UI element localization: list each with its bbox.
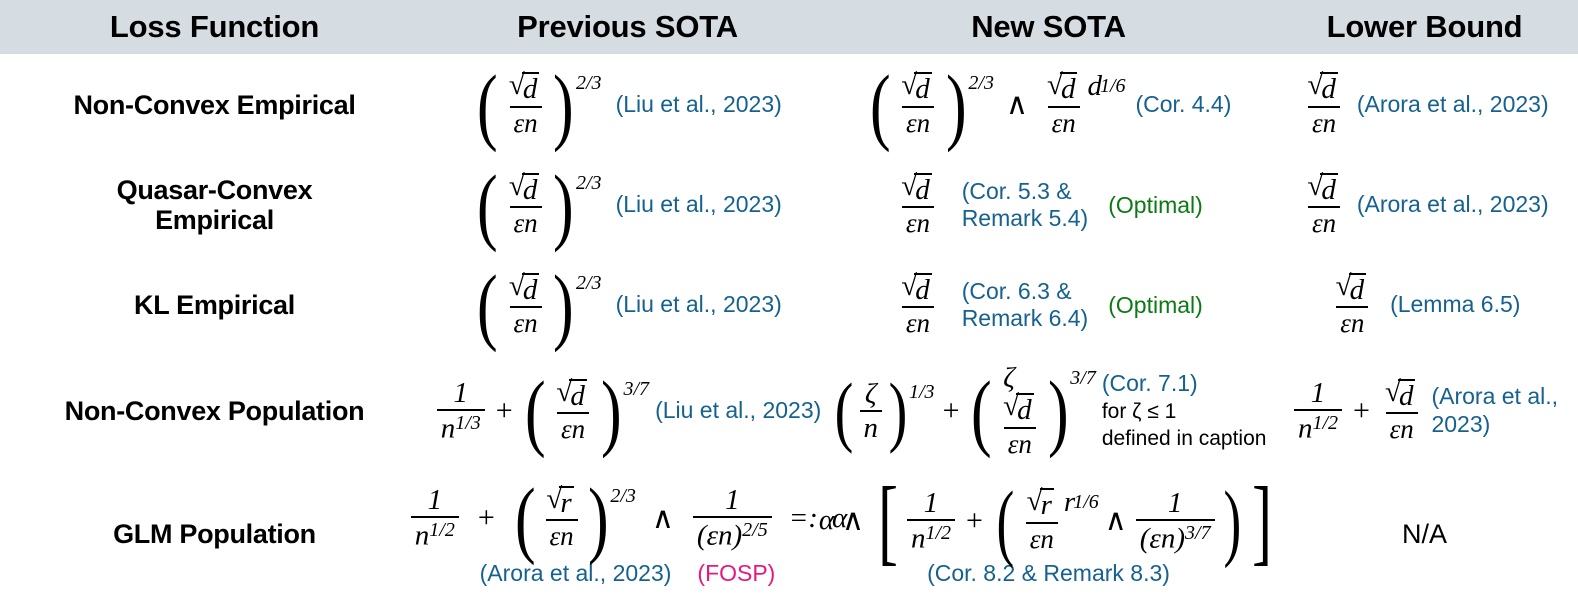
sqrt-icon: d	[901, 273, 935, 306]
cell-prev-sota: ( d εn ) 2/3 (Liu et al., 2023)	[429, 54, 826, 156]
formula-prev-sota-r1: ( d εn ) 2/3	[473, 69, 601, 141]
column-header-new-sota: New SOTA	[826, 0, 1271, 54]
table-row: Quasar-Convex Empirical ( d εn ) 2/3	[0, 156, 1578, 255]
denominator: εn	[546, 519, 578, 551]
plus-icon: +	[476, 501, 497, 535]
table-row: Non-Convex Empirical ( d εn ) 2/3 (Liu e…	[0, 54, 1578, 156]
variable-alpha: α	[819, 506, 834, 535]
numerator: ζd	[999, 364, 1041, 427]
denominator: n1/2	[411, 516, 459, 551]
fraction-one-over-n: 1 n1/2	[408, 486, 462, 551]
fraction: d εn	[1040, 72, 1088, 137]
row-label-quasar-convex-empirical: Quasar-Convex Empirical	[0, 175, 429, 237]
denominator: εn	[557, 412, 589, 444]
denominator: n1/3	[437, 409, 485, 444]
wedge-min-icon: ∧	[1004, 87, 1030, 122]
numerator: 1	[1164, 489, 1187, 519]
denominator: εn	[1308, 206, 1340, 238]
table-row: KL Empirical ( d εn ) 2/3 (Liu et al., 2…	[0, 255, 1578, 356]
denominator: n1/2	[1294, 409, 1342, 444]
left-paren-icon: (	[477, 169, 498, 241]
paren-group: ( r εn )	[511, 482, 613, 554]
numerator: 1	[450, 379, 473, 409]
sqrt-icon: r	[1027, 488, 1057, 521]
row-label-non-convex-empirical: Non-Convex Empirical	[0, 90, 429, 121]
sqrt-icon: d	[1385, 379, 1419, 412]
sqrt-icon: d	[1047, 72, 1081, 105]
formula-new-sota-r3: d εn	[894, 273, 942, 338]
numerator: 1	[721, 486, 744, 516]
sqrt-icon: d	[1336, 273, 1370, 306]
results-table-figure: Loss Function Previous SOTA New SOTA Low…	[0, 0, 1578, 603]
paren-group: ( d εn )	[473, 69, 578, 141]
defined-as-icon: =:	[789, 504, 818, 533]
status-badge-optimal: (Optimal)	[1108, 192, 1203, 219]
formula-new-sota-r4-term1: ( ζ n ) 1/3	[831, 378, 935, 444]
fraction: d εn	[894, 72, 942, 137]
denominator: εn	[902, 106, 934, 138]
paren-group: ( d εn )	[521, 375, 626, 447]
right-paren-icon: )	[1223, 487, 1241, 556]
wedge-min-icon: ∧	[1103, 503, 1129, 538]
left-paren-icon: (	[515, 482, 536, 554]
left-bracket-icon: [	[878, 483, 898, 560]
left-paren-icon: (	[477, 269, 498, 341]
exponent: 2/3	[576, 173, 602, 193]
exponent: 2/3	[610, 486, 636, 506]
row-label-cell: KL Empirical	[0, 255, 429, 356]
numerator: 1	[1307, 379, 1330, 409]
denominator: εn	[510, 306, 542, 338]
citation: (Cor. 4.4)	[1136, 92, 1232, 118]
bracket-group: [ 1 n1/2 + (	[872, 483, 1278, 560]
denominator: εn	[510, 206, 542, 238]
row-label-cell: Non-Convex Population	[0, 356, 429, 467]
note-line2: defined in caption	[1102, 426, 1267, 451]
fraction-one-over-epsn: 1 (εn)3/7	[1133, 489, 1218, 554]
denominator: εn	[1386, 412, 1418, 444]
citation: (Liu et al., 2023)	[616, 292, 782, 318]
citation-block: (Arora et al., 2023)	[1431, 384, 1558, 438]
citation-line2: Remark 5.4)	[962, 206, 1089, 232]
fraction: d εn	[502, 72, 550, 137]
exponent: 1/3	[909, 382, 935, 402]
header-row: Loss Function Previous SOTA New SOTA Low…	[0, 0, 1578, 54]
row-label-cell: GLM Population	[0, 467, 429, 603]
plus-icon: +	[964, 504, 985, 538]
citation-line2: 2023)	[1431, 412, 1490, 438]
sqrt-icon: d	[509, 273, 543, 306]
paren-group: ( d εn )	[473, 269, 578, 341]
fraction-one-over-n: 1 n1/3	[434, 379, 488, 444]
numerator: d	[897, 173, 939, 207]
fraction: r εn	[1020, 488, 1064, 553]
fraction-one-over-n: 1 n1/2	[904, 489, 958, 554]
paren-group: ( ζd εn )	[967, 364, 1072, 459]
wedge-min-icon: ∧	[840, 503, 866, 538]
formula-new-sota-r4-term2: ( ζd εn ) 3/7	[967, 364, 1095, 459]
right-paren-icon: )	[553, 69, 574, 141]
sqrt-icon: d	[901, 72, 935, 105]
numerator: 1	[920, 489, 943, 519]
table-row: GLM Population 1 n1/2 + ( r	[0, 467, 1578, 603]
denominator: εn	[902, 206, 934, 238]
fraction: ζ n	[857, 380, 886, 443]
formula-prev-sota-r2: ( d εn ) 2/3	[473, 169, 601, 241]
exponent: 3/7	[1070, 368, 1096, 388]
row-label-cell: Non-Convex Empirical	[0, 54, 429, 156]
note-line1: for ζ ≤ 1	[1102, 399, 1176, 424]
cell-lower-bound: d εn (Arora et al., 2023)	[1271, 156, 1578, 255]
plus-icon: +	[1351, 394, 1372, 428]
exponent: 2/3	[576, 73, 602, 93]
numerator: r	[1023, 488, 1061, 522]
term-sqrtr-over-epsn-r16: r εn r1/6	[1020, 488, 1099, 553]
numerator: ζ	[861, 380, 881, 410]
numerator: d	[552, 379, 594, 413]
denominator: εn	[1026, 522, 1058, 554]
numerator: d	[1381, 379, 1423, 413]
plus-icon: +	[494, 394, 515, 428]
table-body: Non-Convex Empirical ( d εn ) 2/3 (Liu e…	[0, 54, 1578, 603]
right-paren-icon: )	[1048, 375, 1069, 447]
fraction: d εn	[502, 173, 550, 238]
sqrt-icon: d	[509, 173, 543, 206]
fraction: ζd εn	[996, 364, 1044, 459]
comparison-table: Loss Function Previous SOTA New SOTA Low…	[0, 0, 1578, 603]
sqrt-icon: r	[546, 486, 576, 519]
citation-line1: (Arora et al.,	[1431, 384, 1558, 410]
denominator: εn	[1308, 106, 1340, 138]
numerator: d	[505, 72, 547, 106]
formula-prev-sota-r5: 1 n1/2 + ( r εn ) 2/3	[408, 482, 847, 554]
fraction-one-over-epsn: 1 (εn)2/5	[690, 486, 775, 551]
left-paren-icon: (	[996, 487, 1014, 556]
paren-group: ( d εn )	[473, 169, 578, 241]
citation: (Cor. 7.1)	[1102, 371, 1198, 397]
denominator: εn	[902, 306, 934, 338]
right-paren-icon: )	[889, 378, 908, 444]
sqrt-icon: d	[1003, 393, 1037, 426]
formula-new-sota-r1: ( d εn ) 2/3	[866, 69, 994, 141]
sqrt-icon: d	[556, 379, 590, 412]
numerator: d	[897, 273, 939, 307]
denominator: n	[860, 410, 883, 443]
formula-lower-bound-r1: d εn	[1300, 72, 1348, 137]
row-label-glm-population: GLM Population	[0, 519, 429, 550]
cell-lower-bound: 1 n1/2 + d εn (Arora et al., 2023)	[1271, 356, 1578, 467]
sqrt-icon: d	[901, 173, 935, 206]
cell-new-sota: d εn (Cor. 5.3 & Remark 5.4) (Optimal)	[826, 156, 1271, 255]
denominator: (εn)3/7	[1136, 519, 1215, 554]
numerator: d	[505, 273, 547, 307]
cell-prev-sota: ( d εn ) 2/3 (Liu et al., 2023)	[429, 156, 826, 255]
numerator: d	[1332, 273, 1374, 307]
denominator: εn	[510, 106, 542, 138]
formula-lower-bound-r3: d εn	[1329, 273, 1377, 338]
numerator: r	[542, 486, 580, 520]
column-header-loss-function: Loss Function	[0, 0, 429, 54]
right-paren-icon: )	[553, 269, 574, 341]
column-header-lower-bound: Lower Bound	[1271, 0, 1578, 54]
cell-new-sota: α ∧ [ 1 n1/2 + (	[826, 467, 1271, 603]
formula-new-sota-r5: α ∧ [ 1 n1/2 + (	[819, 483, 1278, 560]
formula-lower-bound-r2: d εn	[1300, 173, 1348, 238]
left-paren-icon: (	[525, 375, 546, 447]
cell-lower-bound: N/A	[1271, 467, 1578, 603]
row-label-cell: Quasar-Convex Empirical	[0, 156, 429, 255]
citation: (Arora et al., 2023)	[1357, 92, 1549, 118]
numerator: 1	[424, 486, 447, 516]
cell-prev-sota: ( d εn ) 2/3 (Liu et al., 2023)	[429, 255, 826, 356]
formula-prev-sota-r3: ( d εn ) 2/3	[473, 269, 601, 341]
numerator: d	[897, 72, 939, 106]
plus-icon: +	[941, 394, 962, 428]
right-paren-icon: )	[946, 69, 967, 141]
paren-contents: r εn r1/6 ∧ 1 (εn)3/7	[1020, 488, 1218, 553]
cell-new-sota: ( ζ n ) 1/3 + ( ζd εn	[826, 356, 1271, 467]
left-paren-icon: (	[870, 69, 891, 141]
wedge-min-icon: ∧	[650, 501, 676, 536]
fraction: d εn	[549, 379, 597, 444]
cell-lower-bound: d εn (Arora et al., 2023)	[1271, 54, 1578, 156]
fraction: r εn	[539, 486, 583, 551]
citation-line1: (Cor. 5.3 &	[962, 179, 1072, 205]
fraction-one-over-n: 1 n1/2	[1291, 379, 1345, 444]
citation: (Liu et al., 2023)	[616, 192, 782, 218]
exponent: 1/6	[1100, 76, 1126, 96]
status-badge-fosp: (FOSP)	[697, 560, 775, 587]
annotation-block: (Cor. 7.1) for ζ ≤ 1 defined in caption	[1102, 371, 1267, 451]
cell-prev-sota: 1 n1/2 + ( r εn ) 2/3	[429, 467, 826, 603]
right-bracket-icon: ]	[1252, 483, 1272, 560]
paren-group: ( ζ n )	[831, 378, 911, 444]
paren-group: ( d εn )	[866, 69, 971, 141]
left-paren-icon: (	[477, 69, 498, 141]
citation: (Cor. 8.2 & Remark 8.3)	[927, 561, 1170, 587]
citation: (Liu et al., 2023)	[616, 92, 782, 118]
exponent: 2/3	[576, 273, 602, 293]
denominator: εn	[1336, 306, 1368, 338]
exponent: 2/3	[968, 73, 994, 93]
citation: (Liu et al., 2023)	[655, 398, 821, 424]
denominator: εn	[1048, 106, 1080, 138]
denominator: (εn)2/5	[693, 516, 772, 551]
exponent: 3/7	[624, 379, 650, 399]
cell-lower-bound: d εn (Lemma 6.5)	[1271, 255, 1578, 356]
table-header: Loss Function Previous SOTA New SOTA Low…	[0, 0, 1578, 54]
numerator: d	[505, 173, 547, 207]
row-label-line2: Empirical	[6, 205, 423, 236]
column-header-previous-sota: Previous SOTA	[429, 0, 826, 54]
denominator: n1/2	[907, 519, 955, 554]
row-label-non-convex-population: Non-Convex Population	[0, 396, 429, 427]
citation: (Arora et al., 2023)	[480, 561, 672, 587]
right-paren-icon: )	[588, 482, 609, 554]
bracket-contents: 1 n1/2 + ( r εn	[904, 487, 1246, 556]
right-paren-icon: )	[601, 375, 622, 447]
sqrt-icon: d	[1307, 173, 1341, 206]
formula-new-sota-r2: d εn	[894, 173, 942, 238]
status-badge-optimal: (Optimal)	[1108, 292, 1203, 319]
denominator: εn	[1004, 427, 1036, 459]
sqrt-icon: d	[509, 72, 543, 105]
formula-second-term: d εn d1/6	[1040, 72, 1126, 137]
numerator: d	[1043, 72, 1085, 106]
citation-line1: (Cor. 6.3 &	[962, 279, 1072, 305]
numerator: d	[1303, 72, 1345, 106]
exponent: 1/6	[1073, 492, 1099, 512]
cell-prev-sota: 1 n1/3 + ( d εn ) 3/7 (Liu et al., 20	[429, 356, 826, 467]
formula-prev-sota-r4: ( d εn ) 3/7	[521, 375, 649, 447]
power-term: ( r εn ) 2/3	[511, 482, 636, 554]
cell-new-sota: d εn (Cor. 6.3 & Remark 6.4) (Optimal)	[826, 255, 1271, 356]
cell-new-sota: ( d εn ) 2/3 ∧ d εn	[826, 54, 1271, 156]
row-label-line1: Quasar-Convex	[6, 175, 423, 206]
fraction-sqrtd-over-epsn: d εn	[1378, 379, 1426, 444]
citation: (Arora et al., 2023)	[1357, 192, 1549, 218]
paren-group: ( r εn r1/6	[991, 487, 1246, 556]
citation-block: (Cor. 6.3 & Remark 6.4)	[962, 279, 1089, 333]
citation: (Lemma 6.5)	[1390, 292, 1520, 318]
left-paren-icon: (	[834, 378, 853, 444]
numerator: d	[1303, 173, 1345, 207]
row-label-kl-empirical: KL Empirical	[0, 290, 429, 321]
lower-bound-na-value: N/A	[1402, 519, 1447, 550]
citation-block: (Cor. 5.3 & Remark 5.4)	[962, 179, 1089, 233]
citation-line2: Remark 6.4)	[962, 306, 1089, 332]
sqrt-icon: d	[1307, 72, 1341, 105]
left-paren-icon: (	[971, 375, 992, 447]
right-paren-icon: )	[553, 169, 574, 241]
fraction: d εn	[502, 273, 550, 338]
table-row: Non-Convex Population 1 n1/3 + ( d εn	[0, 356, 1578, 467]
